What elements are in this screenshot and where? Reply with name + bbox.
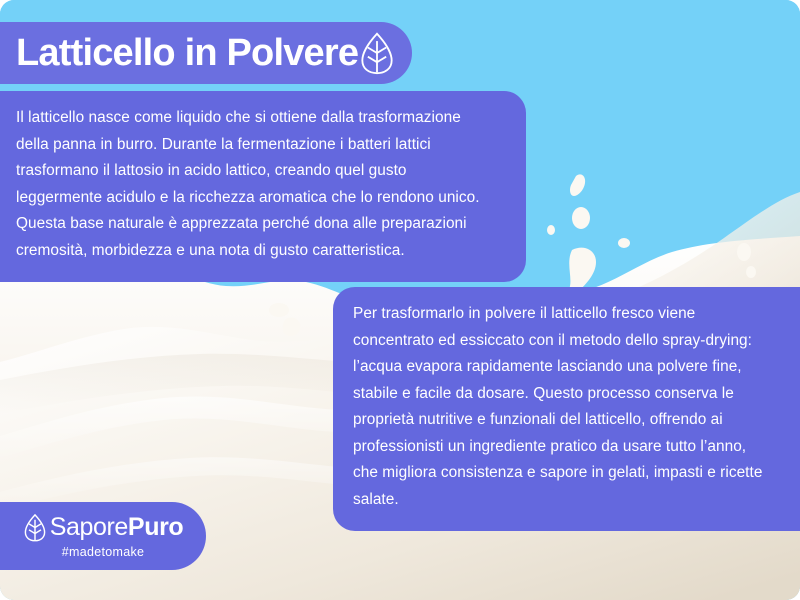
leaf-icon xyxy=(358,31,396,75)
leaf-icon xyxy=(23,513,47,542)
page-title: Latticello in Polvere xyxy=(16,34,358,72)
brand-word-light: Sapore xyxy=(50,513,128,541)
intro-panel: Il latticello nasce come liquido che si … xyxy=(0,91,526,282)
brand-tagline: #madetomake xyxy=(62,545,145,559)
process-paragraph: Per trasformarlo in polvere il latticell… xyxy=(353,301,772,513)
brand-word-bold: Puro xyxy=(128,513,183,541)
brand-logo-badge[interactable]: SaporePuro #madetomake xyxy=(0,502,206,570)
intro-paragraph: Il latticello nasce come liquido che si … xyxy=(16,105,496,264)
process-panel: Per trasformarlo in polvere il latticell… xyxy=(333,287,800,531)
page-title-pill: Latticello in Polvere xyxy=(0,22,412,84)
logo-row: SaporePuro xyxy=(23,513,184,542)
brand-wordmark: SaporePuro xyxy=(50,515,184,540)
poster-canvas: Latticello in Polvere Il latticello nasc… xyxy=(0,0,800,600)
